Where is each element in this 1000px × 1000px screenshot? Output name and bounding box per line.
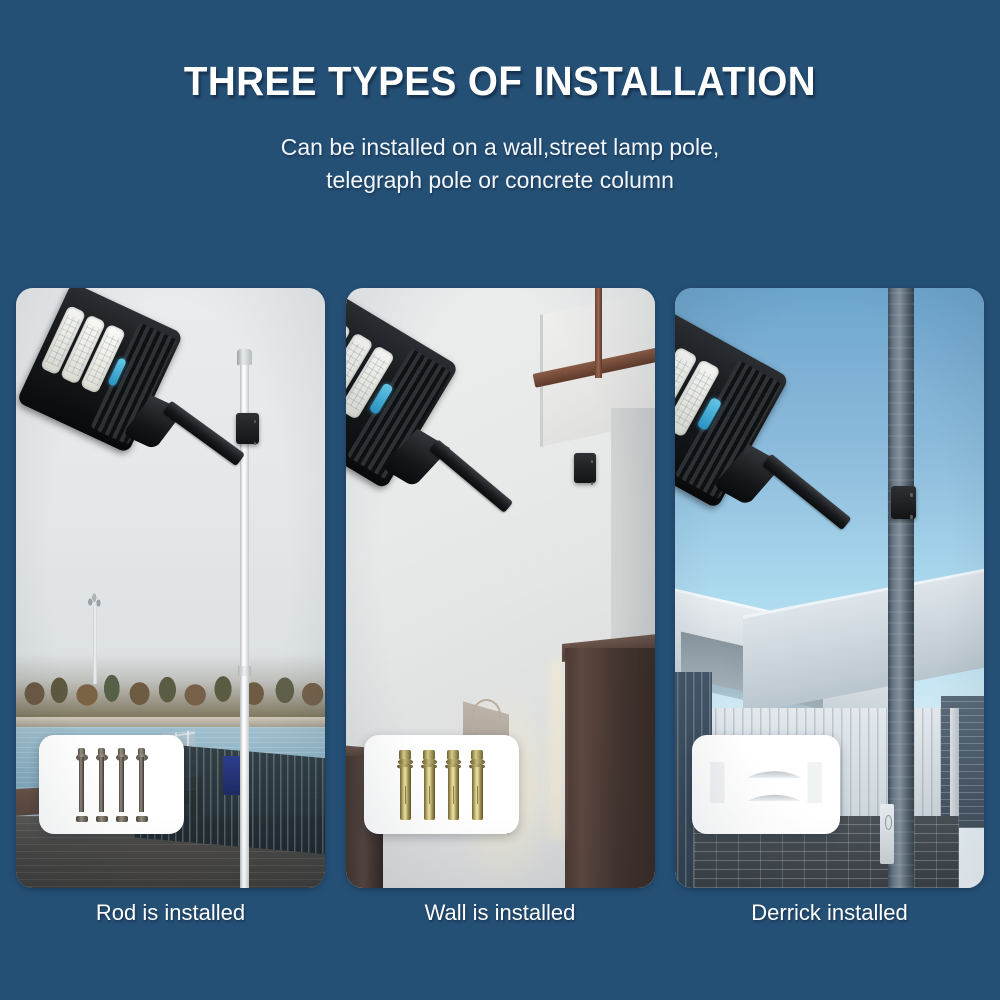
downpipe [950, 708, 959, 828]
expansion-anchor-2 [421, 749, 438, 820]
expansion-anchor-4 [469, 749, 486, 820]
brown-door-frame [565, 648, 655, 888]
bolt-1 [75, 747, 88, 822]
panel-rod-installed[interactable] [16, 288, 325, 888]
expansion-anchor-1 [397, 749, 414, 820]
pole-joint [238, 666, 250, 676]
hardware-inset-card-bands [692, 735, 840, 834]
right-dark-siding [941, 696, 984, 828]
steel-band-group [710, 752, 823, 817]
expansion-anchor-3 [445, 749, 462, 820]
treeline [16, 654, 325, 720]
bolt-2 [95, 747, 108, 822]
installation-panels [16, 288, 984, 888]
distant-mast-top [87, 591, 102, 613]
pole-mount-bracket [891, 486, 916, 519]
pole-mount-bracket [236, 413, 259, 444]
subtitle-line-1: Can be installed on a wall,street lamp p… [281, 134, 720, 160]
utility-meter-box [880, 804, 894, 864]
panel-captions: Rod is installed Wall is installed Derri… [16, 900, 984, 946]
distant-mast [93, 606, 96, 684]
brown-corner-trim [595, 288, 602, 378]
caption-derrick-installed: Derrick installed [675, 900, 984, 946]
page-subtitle: Can be installed on a wall,street lamp p… [0, 105, 1000, 196]
hardware-inset-card-anchors [364, 735, 519, 834]
bolt-4 [135, 747, 148, 822]
panel-derrick-installed[interactable] [675, 288, 984, 888]
hardware-inset-card-bolts [39, 735, 184, 834]
door-edge-light [543, 660, 562, 840]
caption-wall-installed: Wall is installed [346, 900, 655, 946]
wooden-utility-pole [888, 288, 914, 888]
wall-hook [472, 699, 501, 731]
caption-rod-installed: Rod is installed [16, 900, 325, 946]
steel-band-1 [714, 752, 818, 778]
wall-mount-bracket [574, 453, 596, 483]
subtitle-line-2: telegraph pole or concrete column [326, 167, 674, 193]
infographic-page: THREE TYPES OF INSTALLATION Can be insta… [0, 0, 1000, 1000]
bolt-3 [115, 747, 128, 822]
page-title: THREE TYPES OF INSTALLATION [30, 0, 970, 105]
panel-wall-installed[interactable] [346, 288, 655, 888]
header: THREE TYPES OF INSTALLATION Can be insta… [0, 0, 1000, 196]
